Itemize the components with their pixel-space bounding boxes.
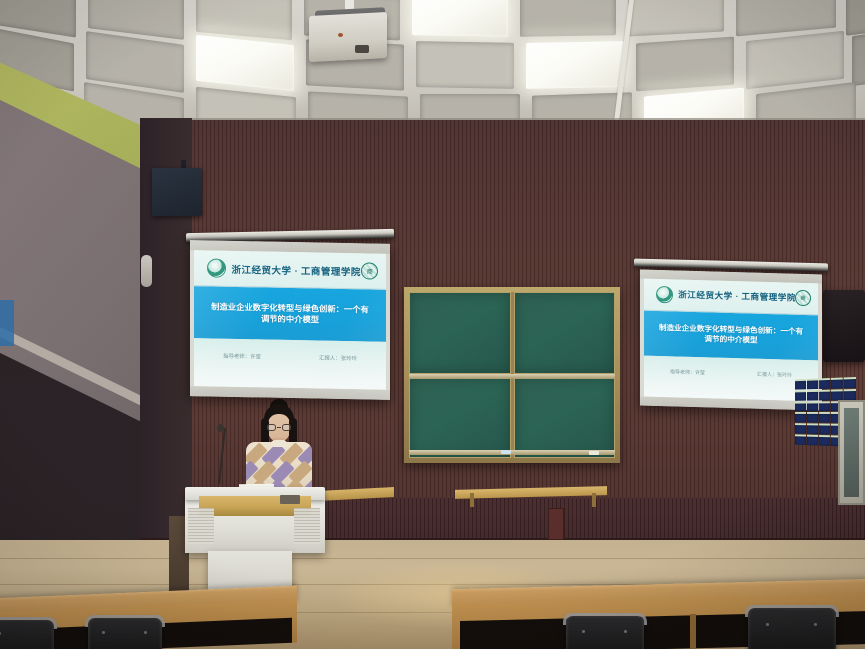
projection-screen-left[interactable]: 浙江经贸大学 · 工商管理学院 商 制造业企业数字化转型与绿色创新：一个有调节的…: [190, 240, 390, 400]
slide-credit-advisor: 指导老师：许莹: [223, 352, 261, 361]
projector-indicator-light: [338, 33, 343, 37]
lecture-hall-photo: 浙江经贸大学 · 工商管理学院 商 制造业企业数字化转型与绿色创新：一个有调节的…: [0, 0, 865, 649]
switch-tile[interactable]: [807, 378, 818, 389]
projector-lens: [355, 45, 369, 53]
blackboard-middle-rail: [409, 374, 615, 379]
ceiling-panel: [86, 31, 184, 93]
switch-tile[interactable]: [795, 379, 806, 390]
switch-tile[interactable]: [844, 377, 856, 388]
blackboard-panels: [409, 292, 615, 458]
chair-rim: [563, 613, 647, 625]
switch-tile[interactable]: [819, 424, 830, 435]
switch-tile[interactable]: [807, 412, 818, 422]
glasses-bridge: [277, 427, 281, 428]
blackboard-panel[interactable]: [409, 292, 511, 374]
switch-tile[interactable]: [819, 378, 830, 389]
wall-notice-board: [0, 300, 14, 346]
switch-tile[interactable]: [795, 435, 806, 446]
ceiling-light-panel: [196, 35, 294, 91]
slide-footer: 指导老师：许莹 汇报人：张玲玲: [644, 355, 818, 401]
podium-speaker-grille: [294, 508, 320, 544]
university-emblem-icon: [656, 286, 673, 303]
chair-stud: [766, 623, 769, 626]
switch-tile[interactable]: [807, 424, 818, 435]
bench-leg: [592, 493, 596, 507]
ceiling-panel: [520, 0, 616, 37]
chair-stud: [102, 631, 105, 634]
switch-tile[interactable]: [819, 401, 830, 412]
speaker-right: [823, 290, 865, 362]
glasses-icon: [267, 424, 291, 431]
projector: [309, 12, 387, 62]
cabinet-glass: [844, 408, 859, 497]
ceiling-panel: [846, 0, 865, 36]
blackboard-panel[interactable]: [514, 377, 616, 459]
slide-header: 浙江经贸大学 · 工商管理学院 商: [194, 250, 386, 290]
speaker-left: [152, 168, 202, 216]
switch-tile[interactable]: [807, 435, 818, 446]
microphone-icon: [217, 424, 224, 432]
switch-tile[interactable]: [795, 401, 806, 411]
blackboard: [404, 287, 620, 463]
chair[interactable]: [748, 608, 836, 649]
blackboard-panel[interactable]: [409, 377, 511, 459]
chair-rim: [745, 605, 839, 617]
switch-tile[interactable]: [795, 412, 806, 422]
ceiling-panel: [416, 41, 514, 89]
sweater-collar: [270, 440, 288, 447]
bench-leg: [470, 493, 474, 507]
switch-tile[interactable]: [831, 389, 843, 400]
slide-title-band: 制造业企业数字化转型与绿色创新：一个有调节的中介模型: [644, 310, 818, 360]
wall-lamp: [141, 255, 152, 287]
ceiling-panel: [852, 28, 865, 86]
ceiling-panel: [628, 0, 724, 37]
switch-tile[interactable]: [819, 412, 830, 423]
slide-left: 浙江经贸大学 · 工商管理学院 商 制造业企业数字化转型与绿色创新：一个有调节的…: [194, 250, 386, 390]
chair-stud: [0, 632, 1, 635]
wall-outlet: [548, 508, 564, 540]
slide-university-line: 浙江经贸大学 · 工商管理学院: [678, 289, 795, 304]
floor-seam: [0, 558, 865, 559]
podium-speaker-grille: [188, 508, 214, 544]
slide-credit-presenter: 汇报人：张玲玲: [757, 370, 792, 378]
slide-title: 制造业企业数字化转型与绿色创新：一个有调节的中介模型: [656, 323, 806, 348]
college-seal-icon: 商: [795, 290, 811, 306]
ceiling-panel: [746, 31, 844, 89]
switch-tile[interactable]: [819, 435, 830, 446]
slide-credit-advisor: 指导老师：许莹: [670, 368, 705, 376]
chair[interactable]: [88, 618, 162, 649]
ceiling-panel: [196, 0, 292, 40]
podium-control-plate[interactable]: [280, 495, 300, 504]
blackboard-chalk-tray: [409, 450, 615, 455]
slide-header: 浙江经贸大学 · 工商管理学院 商: [644, 279, 818, 316]
switch-tile[interactable]: [795, 390, 806, 400]
desk-divider: [690, 614, 696, 649]
chair[interactable]: [0, 620, 54, 649]
chair-stud: [582, 630, 585, 633]
college-seal-icon: 商: [361, 263, 378, 280]
switch-tile[interactable]: [819, 389, 830, 400]
ceiling-panel: [636, 37, 734, 92]
slide-footer: 指导老师：许莹 汇报人：张玲玲: [194, 338, 386, 390]
presenter: [246, 404, 312, 496]
chair-rim: [85, 615, 165, 627]
ceiling-panel: [736, 0, 836, 36]
glasses-lens: [282, 424, 291, 431]
ceiling-light-panel: [412, 0, 508, 37]
chalk[interactable]: [501, 450, 511, 454]
slide-title: 制造业企业数字化转型与绿色创新：一个有调节的中介模型: [207, 301, 372, 327]
glasses-lens: [267, 424, 276, 431]
switch-tile[interactable]: [807, 390, 818, 401]
chair-stud: [144, 631, 147, 634]
switch-tile[interactable]: [844, 389, 856, 400]
slide-university-line: 浙江经贸大学 · 工商管理学院: [231, 262, 361, 278]
slide-right: 浙江经贸大学 · 工商管理学院 商 制造业企业数字化转型与绿色创新：一个有调节的…: [644, 279, 818, 402]
chair-stud: [814, 623, 817, 626]
chalk[interactable]: [589, 451, 599, 455]
slide-credit-presenter: 汇报人：张玲玲: [319, 354, 357, 363]
university-emblem-icon: [207, 259, 226, 278]
switch-tile[interactable]: [807, 401, 818, 411]
chair-stud: [624, 630, 627, 633]
switch-tile[interactable]: [831, 378, 843, 389]
slide-title-band: 制造业企业数字化转型与绿色创新：一个有调节的中介模型: [194, 287, 386, 342]
wall-cabinet[interactable]: [838, 400, 865, 505]
chair[interactable]: [566, 616, 644, 649]
ceiling-light-panel: [526, 41, 624, 89]
chair-rim: [0, 617, 57, 629]
switch-tile[interactable]: [795, 423, 806, 433]
blackboard-panel[interactable]: [514, 292, 616, 374]
